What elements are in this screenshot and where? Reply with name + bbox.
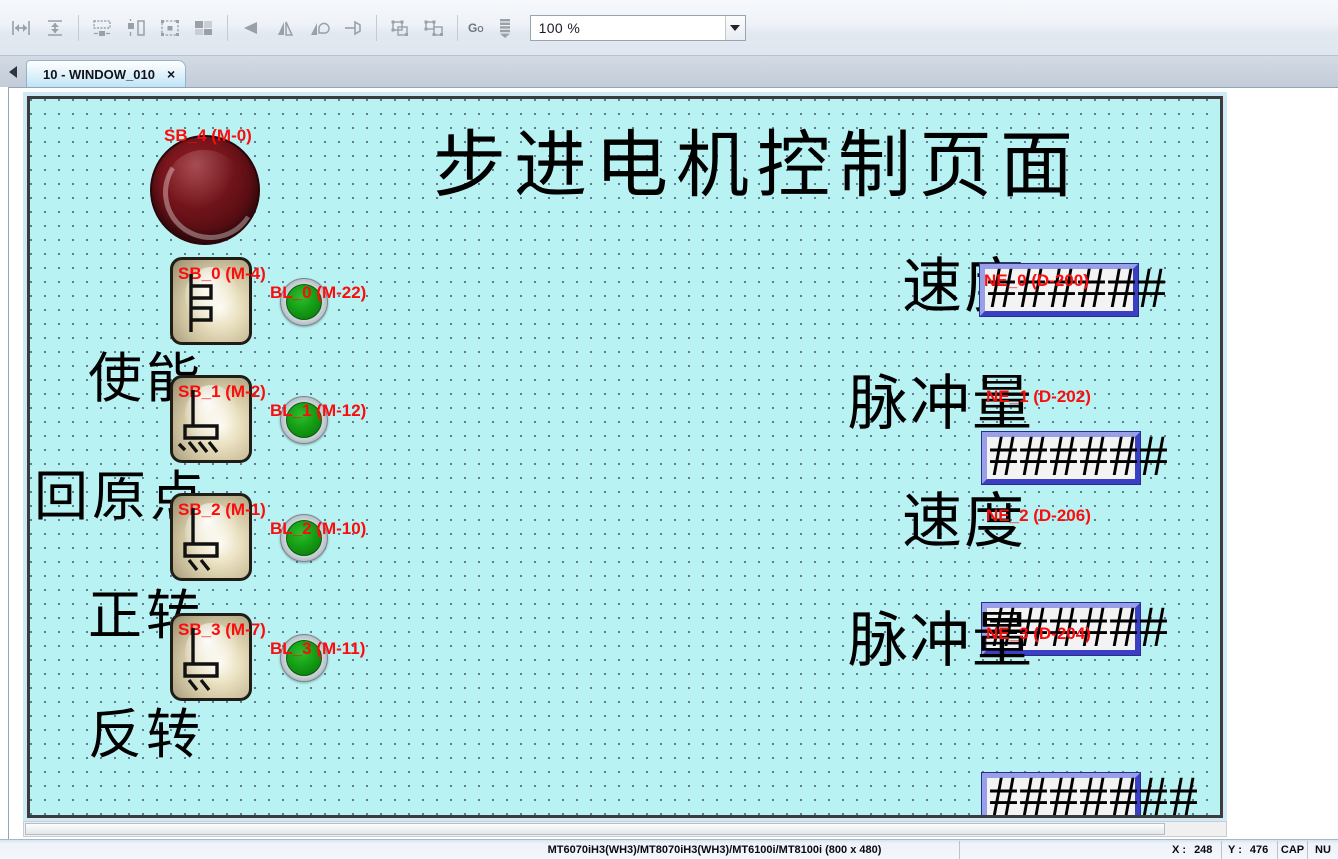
toolbar-separator [227,15,228,41]
field-label-speed-2: 速度 [902,492,1026,552]
flip-horizontal-icon[interactable] [268,11,302,45]
status-y-label: Y : 476 [1222,841,1278,859]
field-label-pulse-3: 脉冲量 [848,611,1034,671]
lamp-bl0[interactable] [280,278,328,326]
status-x-value: 248 [1194,844,1212,856]
status-caps-flag: CAP [1278,841,1308,859]
estop-stem [190,135,224,138]
status-model-info: MT6070iH3(WH3)/MT8070iH3(WH3)/MT6100i/MT… [470,841,960,859]
chevron-down-icon[interactable] [725,16,745,40]
tab-label: 10 - WINDOW_010 [43,67,155,82]
group-objects-icon[interactable] [383,11,417,45]
editor-frame: 步进电机控制页面 SB_4 (M-0) 使能 [8,87,1338,839]
pin-object-icon[interactable] [336,11,370,45]
numeric-field-ne0[interactable]: ###### [980,264,1138,316]
editor-area: 步进电机控制页面 SB_4 (M-0) 使能 [0,87,1338,839]
toolbar-separator [78,15,79,41]
same-height-icon[interactable] [119,11,153,45]
canvas-viewport: 步进电机控制页面 SB_4 (M-0) 使能 [23,92,1227,822]
pushbutton-sb2[interactable] [170,493,252,581]
go-to-window-button[interactable]: Go [464,21,488,35]
horizontal-scrollbar-thumb[interactable] [25,823,1165,835]
status-x-label-text: X : [1172,844,1186,856]
horizontal-scrollbar[interactable] [23,821,1227,837]
size-to-grid-icon[interactable] [187,11,221,45]
status-y-value: 476 [1250,844,1268,856]
toolbar-separator [376,15,377,41]
tab-window-010[interactable]: 10 - WINDOW_010 × [26,60,186,87]
status-y-label-text: Y : [1228,844,1242,856]
ungroup-objects-icon[interactable] [417,11,451,45]
hmi-editor-window: Go 100 % 10 - WINDOW_010 [0,0,1338,859]
zoom-level-value: 100 % [531,20,581,36]
screen-title: 步进电机控制页面 [433,129,1081,202]
status-bar: MT6070iH3(WH3)/MT8070iH3(WH3)/MT6100i/MT… [0,839,1338,859]
row-label-reverse: 反转 [88,708,204,762]
lamp-bl3[interactable] [280,634,328,682]
same-width-icon[interactable] [85,11,119,45]
status-left-pad [0,841,470,859]
zoom-levels-icon[interactable] [488,11,522,45]
rotate-left-icon[interactable] [234,11,268,45]
numeric-field-ne3[interactable]: ####### [982,773,1140,818]
lamp-bl2[interactable] [280,514,328,562]
toolbar-separator [457,15,458,41]
numeric-field-ne3-value: ####### [989,768,1199,818]
nav-previous-icon[interactable] [0,56,26,87]
align-horizontal-spacing-icon[interactable] [4,11,38,45]
lamp-bl1[interactable] [280,396,328,444]
pushbutton-sb1[interactable] [170,375,252,463]
emergency-stop-button[interactable] [150,135,260,245]
flip-vertical-icon[interactable] [302,11,336,45]
close-icon[interactable]: × [167,67,175,81]
same-size-icon[interactable] [153,11,187,45]
alignment-toolbar: Go 100 % [0,0,1338,56]
numeric-field-ne0-value: ###### [987,259,1167,317]
window-tab-strip: 10 - WINDOW_010 × [0,56,1338,87]
pushbutton-sb0[interactable] [170,257,252,345]
status-x-label: X : 248 [1166,841,1222,859]
pushbutton-sb3[interactable] [170,613,252,701]
hmi-screen-canvas[interactable]: 步进电机控制页面 SB_4 (M-0) 使能 [27,96,1223,818]
align-vertical-spacing-icon[interactable] [38,11,72,45]
numeric-field-ne1-value: ###### [989,427,1169,485]
zoom-level-combobox[interactable]: 100 % [530,15,746,41]
status-num-flag: NU [1308,841,1338,859]
numeric-field-ne1[interactable]: ###### [982,432,1140,484]
